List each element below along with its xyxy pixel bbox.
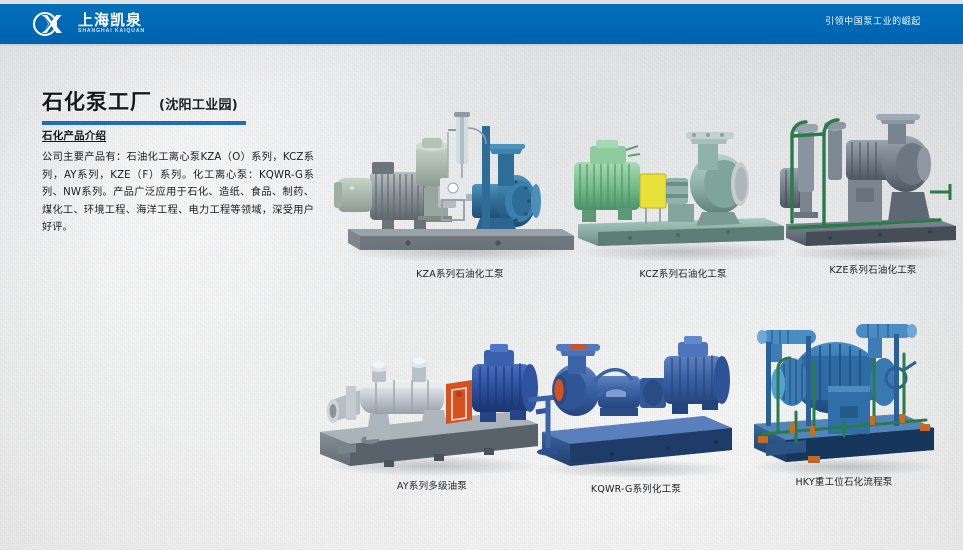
kaiquan-logo-icon bbox=[32, 11, 72, 37]
product-shadow bbox=[790, 244, 954, 262]
product-card-kqwrg[interactable]: KQWR-G系列化工泵 bbox=[528, 336, 744, 496]
intro-block: 石化产品介绍 公司主要产品有：石油化工离心泵KZA（O）系列，KCZ系列，AY系… bbox=[42, 128, 314, 237]
product-card-kcz[interactable]: KCZ系列石油化工泵 bbox=[568, 120, 798, 285]
page-subtitle: (沈阳工业园) bbox=[159, 94, 238, 113]
product-card-hky[interactable]: HKY重工位石化流程泵 bbox=[744, 316, 944, 496]
product-shadow bbox=[346, 240, 574, 262]
product-image-kcz bbox=[568, 120, 798, 262]
logo-chinese-name: 上海凯泉 bbox=[78, 12, 144, 28]
product-card-ay[interactable]: AY系列多级油泵 bbox=[312, 328, 552, 496]
product-shadow bbox=[326, 456, 536, 476]
page-title-block: 石化泵工厂 (沈阳工业园) bbox=[42, 86, 302, 125]
product-caption-kza: KZA系列石油化工泵 bbox=[330, 266, 590, 280]
intro-paragraph: 公司主要产品有：石油化工离心泵KZA（O）系列，KCZ系列，AY系列，KZE（F… bbox=[42, 149, 314, 237]
logo-english-name: SHANGHAI KAIQUAN bbox=[78, 28, 145, 35]
product-image-kqwrg bbox=[528, 336, 744, 478]
product-caption-kcz: KCZ系列石油化工泵 bbox=[568, 266, 798, 280]
product-shadow bbox=[538, 460, 730, 478]
product-caption-kqwrg: KQWR-G系列化工泵 bbox=[528, 481, 744, 495]
intro-heading: 石化产品介绍 bbox=[42, 128, 314, 143]
product-caption-hky: HKY重工位石化流程泵 bbox=[744, 474, 944, 488]
page-title: 石化泵工厂 bbox=[42, 86, 152, 116]
product-card-kze[interactable]: KZE系列石油化工泵 bbox=[784, 112, 962, 282]
product-image-kza bbox=[330, 108, 590, 260]
product-image-hky bbox=[744, 316, 944, 476]
product-caption-kze: KZE系列石油化工泵 bbox=[784, 262, 962, 276]
product-caption-ay: AY系列多级油泵 bbox=[312, 478, 552, 492]
header-underline bbox=[0, 44, 963, 46]
header-slogan: 引领中国泵工业的崛起 bbox=[825, 0, 921, 40]
product-card-kza[interactable]: KZA系列石油化工泵 bbox=[330, 108, 590, 283]
site-header bbox=[0, 4, 963, 44]
title-underline-rule bbox=[42, 121, 246, 125]
product-image-kze bbox=[784, 112, 962, 262]
page-root: 上海凯泉 SHANGHAI KAIQUAN 引领中国泵工业的崛起 石化泵工厂 (… bbox=[0, 0, 963, 550]
brand-logo[interactable]: 上海凯泉 SHANGHAI KAIQUAN bbox=[32, 10, 144, 37]
product-shadow bbox=[580, 242, 786, 262]
